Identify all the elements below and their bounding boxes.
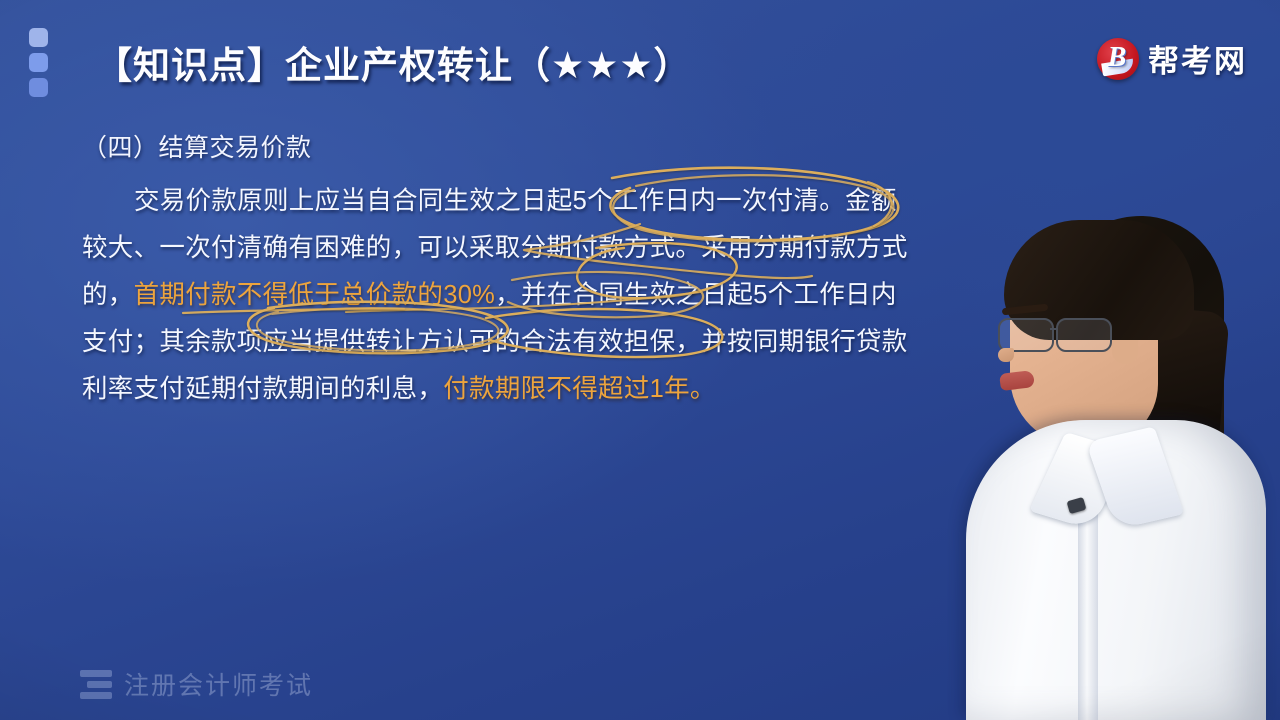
brand-b-circle-icon: B [1097,38,1139,80]
page-title: 【知识点】企业产权转让（★★★） [95,35,692,89]
presenter-nose [998,348,1014,362]
square-mark-1 [29,28,48,47]
three-squares-icon [29,28,48,97]
presenter-shirt-placket [1078,508,1098,720]
section-heading: （四）结算交易价款 [82,128,912,164]
body-paragraph: 交易价款原则上应当自合同生效之日起5个工作日内一次付清。金额较大、一次付清确有困… [82,178,912,413]
square-mark-2 [29,53,48,72]
glasses-lens-right [1056,318,1112,352]
slide-content: （四）结算交易价款 交易价款原则上应当自合同生效之日起5个工作日内一次付清。金额… [82,128,912,413]
highlight-first-payment: 首期付款不得低于总价款的30% [134,281,496,309]
highlight-term-limit-cont: 款期限不得超过1年。 [469,375,716,403]
watermark-logo-icon [80,670,112,699]
watermark-bar-3 [80,692,112,699]
paragraph-line-1: 交易价款原则上应当自合同生效之日起5个工作日内一次付清。 [134,187,845,215]
watermark-bar-1 [80,670,112,677]
presenter-figure [950,160,1280,720]
paragraph-line-3c: ，并在合同生 [495,281,650,309]
page-title-text: 【知识点】企业产权转让（★★★） [95,45,692,86]
presenter-glasses-icon [998,318,1116,348]
brand-name: 帮考网 [1148,36,1247,81]
watermark: 注册会计师考试 [80,666,313,702]
watermark-bar-2 [87,681,112,688]
highlight-term-limit: 付 [443,375,469,403]
brand-badge-letter: B [1108,44,1127,72]
slide-stage: 【知识点】企业产权转让（★★★） B 帮考网 （四）结算交易价款 交易价款原则上… [0,0,1280,720]
glasses-lens-left [998,318,1054,352]
square-mark-3 [29,78,48,97]
watermark-text: 注册会计师考试 [124,666,313,702]
brand-logo: B 帮考网 [1097,36,1247,81]
